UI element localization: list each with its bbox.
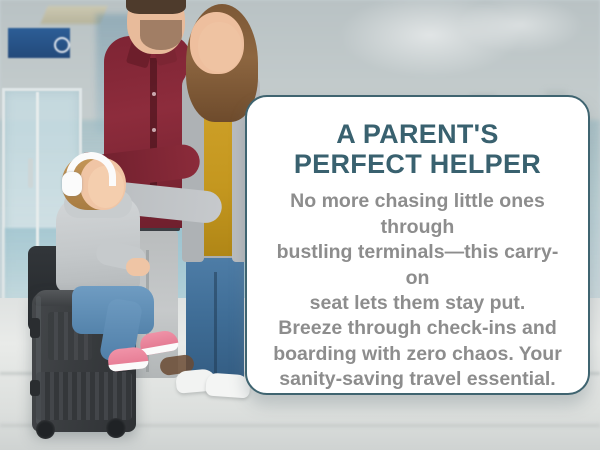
suitcase-spinner-wheel-left: [36, 420, 55, 439]
man-shirt-button: [152, 128, 156, 132]
woman-face: [198, 22, 242, 72]
man-hair: [126, 0, 186, 14]
terminal-blue-sign: [8, 28, 70, 58]
promo-text-card: A PARENT'S PERFECT HELPER No more chasin…: [245, 95, 590, 395]
woman-white-sneaker-right: [205, 372, 250, 398]
child-hands: [126, 258, 150, 276]
promo-body-line-6: sanity-saving travel essential.: [265, 367, 570, 392]
man-shirt-button: [152, 92, 156, 96]
door-handle-icon: [28, 158, 33, 188]
suitcase-side-edge: [36, 296, 41, 424]
promo-body-line-3: seat lets them stay put.: [265, 291, 570, 316]
woman-jeans-seam: [214, 272, 217, 378]
promo-body-line-1: No more chasing little ones through: [265, 189, 570, 240]
suitcase-ribbed-panel-lower: [36, 372, 132, 420]
promo-advertisement: A PARENT'S PERFECT HELPER No more chasin…: [0, 0, 600, 450]
promo-body-text: No more chasing little ones through bust…: [265, 189, 570, 392]
promo-body-line-2: bustling terminals—this carry-on: [265, 240, 570, 291]
suitcase-latch-upper: [30, 318, 40, 338]
promo-headline-line-2: PERFECT HELPER: [265, 149, 570, 179]
child-pink-sneaker-front: [107, 346, 149, 372]
child-headphones-earcup-icon: [62, 172, 82, 196]
suitcase-spinner-wheel-right: [106, 418, 126, 438]
promo-body-line-5: boarding with zero chaos. Your: [265, 342, 570, 367]
promo-headline: A PARENT'S PERFECT HELPER: [265, 119, 570, 179]
man-beard: [140, 20, 182, 50]
promo-headline-line-1: A PARENT'S: [265, 119, 570, 149]
suitcase-latch-lower: [30, 380, 40, 396]
promo-body-line-4: Breeze through check-ins and: [265, 316, 570, 341]
